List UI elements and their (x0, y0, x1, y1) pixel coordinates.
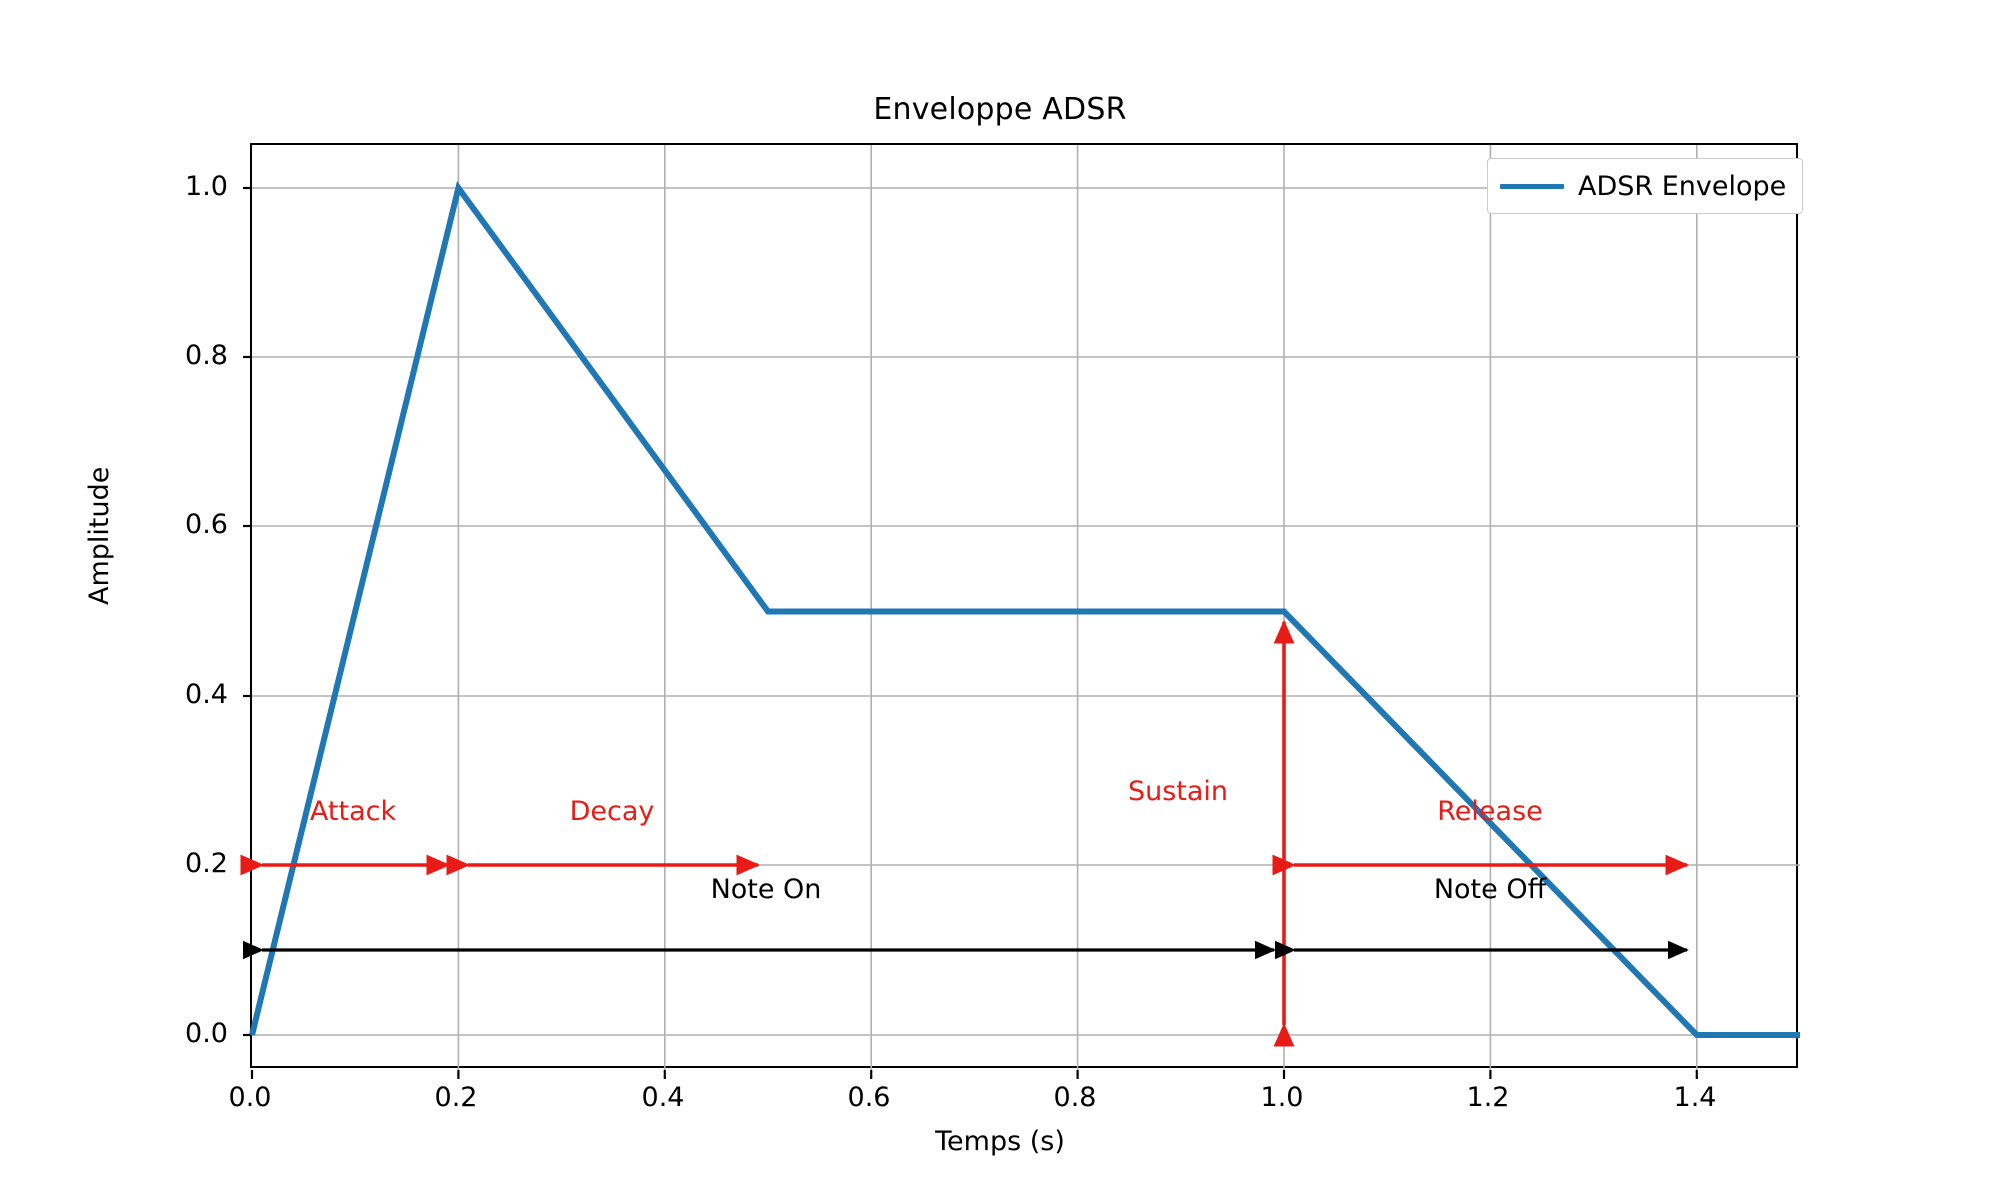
annotation-label-note-on: Note On (711, 874, 822, 905)
legend-line-swatch (1500, 184, 1564, 189)
y-tick-label-0-0: 0.0 (150, 1018, 228, 1049)
y-tick-label-1-0: 1.0 (150, 171, 228, 202)
x-tick-label-0-0: 0.0 (210, 1082, 290, 1113)
y-tick-label-0-6: 0.6 (150, 509, 228, 540)
figure-canvas: Enveloppe ADSR 1.0 0.8 0.6 0.4 0.2 0.0 0… (0, 0, 2000, 1200)
y-tick-label-0-8: 0.8 (150, 340, 228, 371)
x-tick-label-1-0: 1.0 (1242, 1082, 1322, 1113)
annotation-label-attack: Attack (310, 796, 396, 827)
x-tick-label-1-4: 1.4 (1655, 1082, 1735, 1113)
annotation-arrows (252, 145, 1800, 1070)
legend[interactable]: ADSR Envelope (1487, 158, 1803, 214)
x-tick-label-0-6: 0.6 (829, 1082, 909, 1113)
x-tick-label-0-2: 0.2 (416, 1082, 496, 1113)
y-axis-label: Amplitude (84, 467, 115, 605)
x-tick-label-0-8: 0.8 (1035, 1082, 1115, 1113)
y-tick-label-0-4: 0.4 (150, 679, 228, 710)
y-tick-label-0-2: 0.2 (150, 848, 228, 879)
x-tick-label-0-4: 0.4 (623, 1082, 703, 1113)
annotation-label-release: Release (1437, 796, 1543, 827)
legend-label-adsr-envelope: ADSR Envelope (1578, 171, 1786, 202)
page-title: Enveloppe ADSR (0, 92, 2000, 127)
plot-area (250, 143, 1798, 1068)
annotation-label-note-off: Note Off (1434, 874, 1546, 905)
x-axis-label: Temps (s) (0, 1126, 2000, 1157)
annotation-label-decay: Decay (570, 796, 655, 827)
annotation-label-sustain: Sustain (1128, 776, 1228, 807)
x-tick-label-1-2: 1.2 (1448, 1082, 1528, 1113)
